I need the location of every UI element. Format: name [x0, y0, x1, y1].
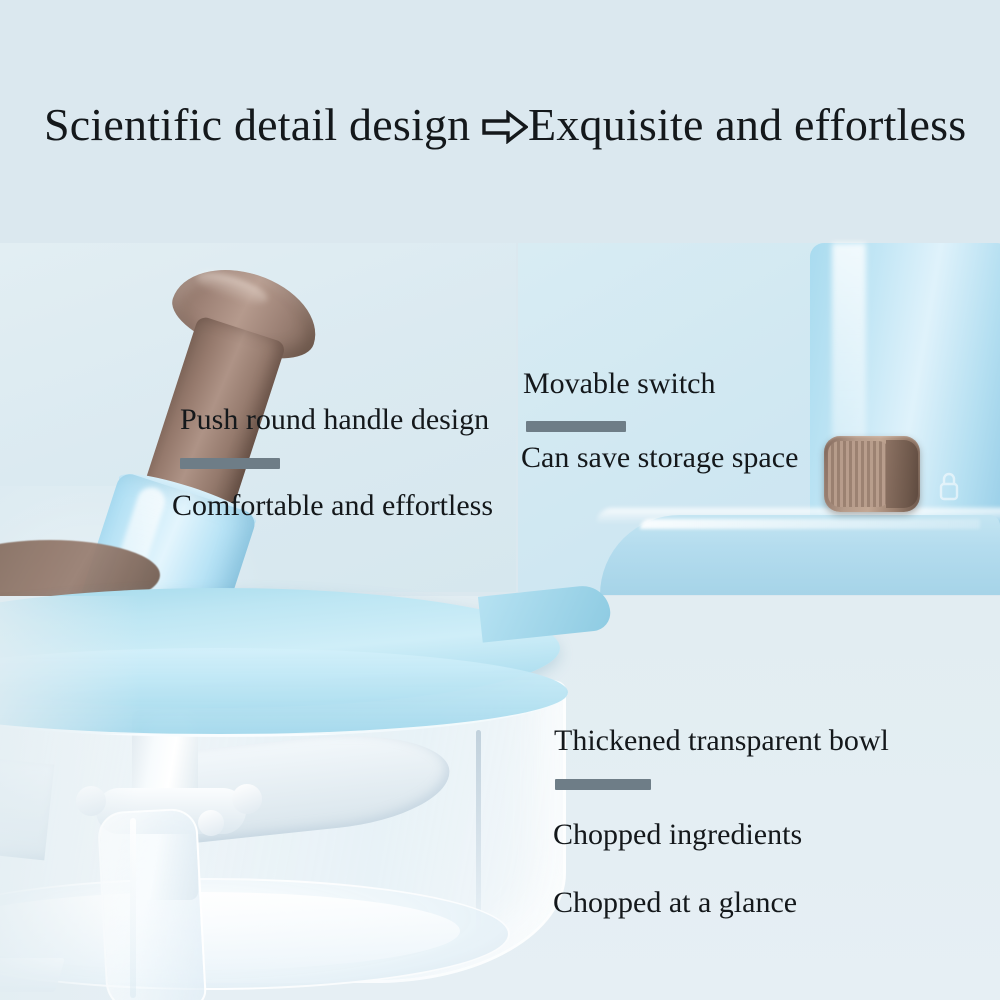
hollow-right-arrow-icon — [482, 99, 528, 133]
push-handle-heading: Push round handle design — [180, 403, 489, 437]
bowl-wall-highlight — [476, 730, 481, 936]
infographic-page: Scientific detail design Exquisite and e… — [0, 0, 1000, 1000]
title-text-before: Scientific detail design — [44, 99, 482, 150]
bowl-line-3: Chopped at a glance — [553, 886, 797, 920]
movable-switch-subtext: Can save storage space — [521, 441, 798, 475]
hub-ball-left — [76, 786, 106, 816]
floor-scraper-blade — [0, 958, 65, 992]
bowl-line-2: Chopped ingredients — [553, 818, 802, 852]
bowl-divider — [555, 779, 651, 790]
hub-ball-right — [232, 784, 262, 814]
switch-ribbing — [828, 441, 890, 507]
appliance-ledge — [600, 515, 1000, 595]
transparent-bowl-illustration — [0, 560, 640, 1000]
movable-switch-divider — [526, 421, 626, 432]
hub-ball-center — [198, 810, 224, 836]
title-text-after: Exquisite and effortless — [528, 99, 966, 150]
bowl-heading: Thickened transparent bowl — [554, 724, 889, 758]
paddle-edge-highlight — [130, 818, 136, 998]
lock-icon — [936, 470, 962, 502]
lid-spout — [478, 583, 612, 642]
push-handle-subtext: Comfortable and effortless — [172, 489, 493, 523]
mixing-paddle — [97, 808, 207, 1000]
push-handle-divider — [180, 458, 280, 469]
movable-switch-heading: Movable switch — [523, 367, 715, 401]
switch-cap — [886, 440, 918, 508]
page-title: Scientific detail design Exquisite and e… — [44, 95, 974, 155]
movable-switch-control[interactable] — [824, 436, 920, 512]
